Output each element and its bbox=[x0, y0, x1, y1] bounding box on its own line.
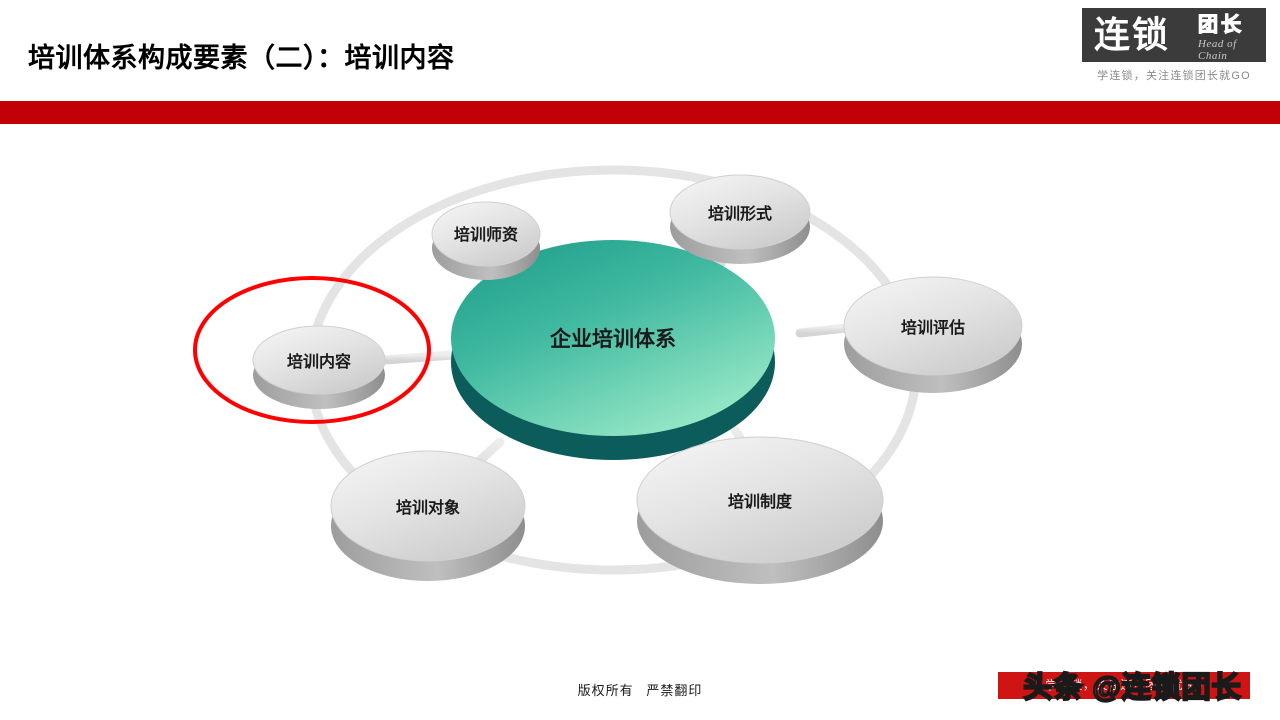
node-shizi-label: 培训师资 bbox=[454, 225, 518, 244]
node-zhidu-label: 培训制度 bbox=[728, 492, 793, 511]
watermark-text: 头条 @连锁团长 bbox=[985, 664, 1280, 706]
node-pinggu[interactable]: 培训评估 bbox=[844, 277, 1022, 393]
watermark: 学连锁，关注连锁团长就GO 头条 @连锁团长 bbox=[985, 662, 1280, 710]
node-duixiang-label: 培训对象 bbox=[396, 498, 460, 517]
node-shizi[interactable]: 培训师资 bbox=[432, 202, 540, 280]
logo-english-text: Head of Chain bbox=[1198, 38, 1266, 62]
footer-copyright-text: 版权所有 bbox=[578, 683, 634, 698]
node-neirong-label: 培训内容 bbox=[287, 352, 351, 371]
node-xingshi[interactable]: 培训形式 bbox=[670, 175, 810, 264]
accent-bar bbox=[0, 101, 1280, 124]
logo-box: 连锁 团长 Head of Chain bbox=[1082, 8, 1266, 62]
node-zhidu[interactable]: 培训制度 bbox=[637, 437, 883, 584]
brand-logo: 连锁 团长 Head of Chain 学连锁，关注连锁团长就GO bbox=[1082, 8, 1266, 83]
node-pinggu-label: 培训评估 bbox=[901, 318, 965, 337]
footer-notice-text: 严禁翻印 bbox=[646, 683, 702, 698]
logo-main-text: 连锁 bbox=[1094, 10, 1170, 60]
node-neirong[interactable]: 培训内容 bbox=[253, 326, 385, 409]
logo-tagline: 学连锁，关注连锁团长就GO bbox=[1082, 62, 1266, 83]
node-duixiang[interactable]: 培训对象 bbox=[331, 451, 525, 581]
node-xingshi-label: 培训形式 bbox=[708, 204, 772, 223]
logo-sub-text: 团长 bbox=[1198, 12, 1244, 38]
center-node-label: 企业培训体系 bbox=[549, 327, 676, 351]
page-title: 培训体系构成要素（二）：培训内容 bbox=[28, 36, 455, 75]
training-system-diagram: 企业培训体系 培训师资 培训形式 培训评估 培训制度 培训对象 培训内容 bbox=[0, 130, 1280, 630]
